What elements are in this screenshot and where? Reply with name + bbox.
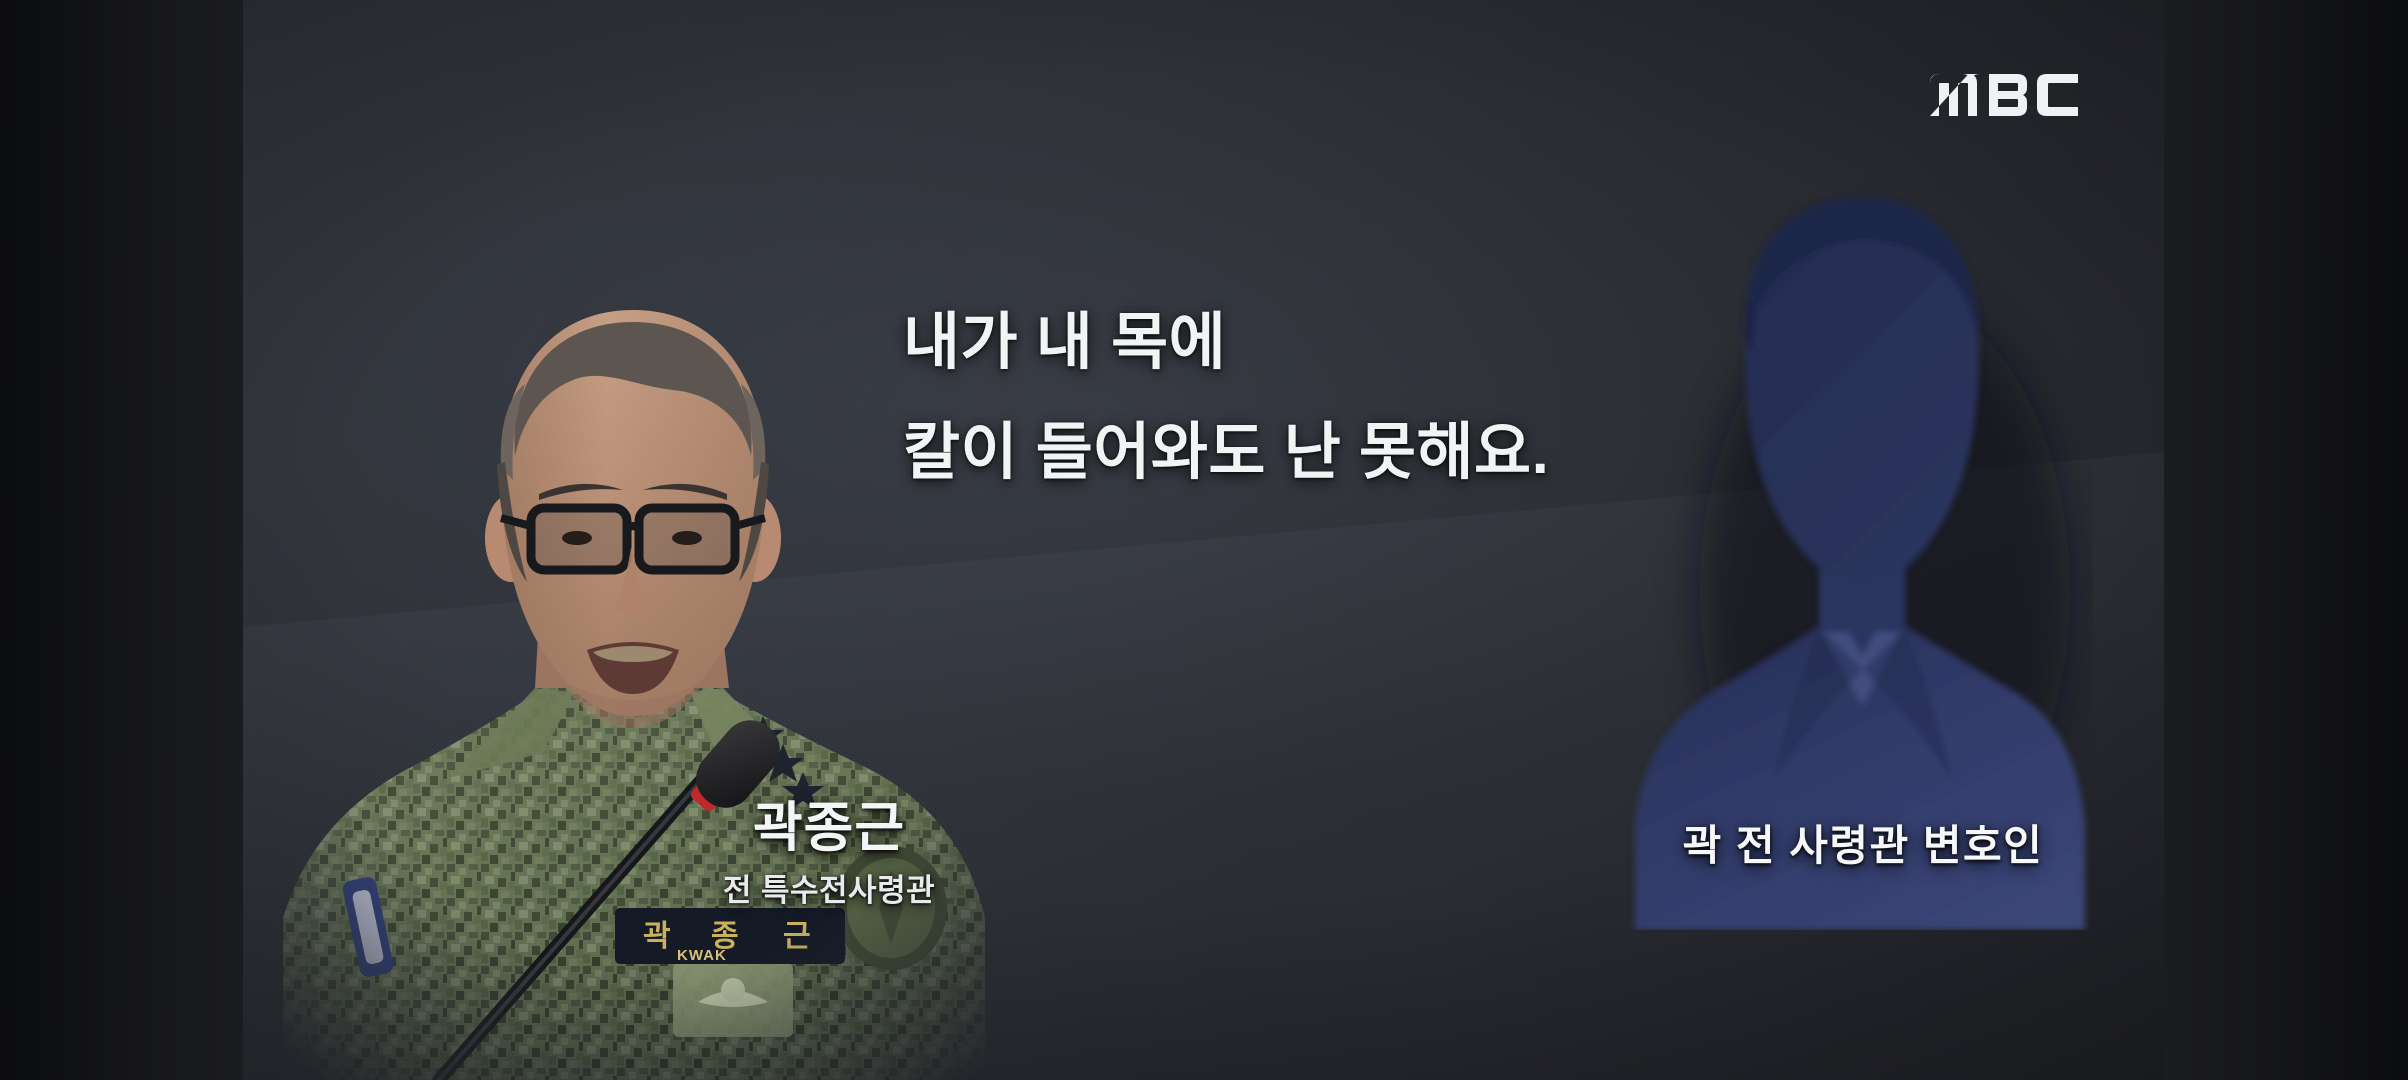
video-frame: 곽 종 근 KWAK bbox=[243, 0, 2164, 1080]
svg-text:곽: 곽 bbox=[643, 920, 671, 953]
left-subject-name: 곽종근 bbox=[619, 800, 1039, 857]
uniform-nametag: 곽 종 근 KWAK bbox=[615, 908, 845, 964]
quote-block: 내가 내 목에 칼이 들어와도 난 못해요. bbox=[903, 312, 1723, 484]
pillarbox-right bbox=[2164, 0, 2408, 1080]
left-subject-role: 전 특수전사령관 bbox=[619, 865, 1039, 910]
quote-line-1: 내가 내 목에 bbox=[903, 312, 1723, 374]
svg-text:근: 근 bbox=[783, 920, 811, 953]
officer-photo: 곽 종 근 KWAK bbox=[243, 218, 1013, 1080]
broadcast-screen: 곽 종 근 KWAK bbox=[0, 0, 2408, 1080]
mbc-logo bbox=[1928, 70, 2080, 116]
quote-line-2: 칼이 들어와도 난 못해요. bbox=[903, 422, 1723, 484]
pillarbox-left bbox=[0, 0, 243, 1080]
svg-text:KWAK: KWAK bbox=[677, 947, 727, 964]
caption-right-subject: 곽 전 사령관 변호인 bbox=[1563, 812, 2163, 873]
right-subject-name: 곽 전 사령관 변호인 bbox=[1563, 812, 2163, 873]
caption-left-subject: 곽종근 전 특수전사령관 bbox=[619, 800, 1039, 910]
